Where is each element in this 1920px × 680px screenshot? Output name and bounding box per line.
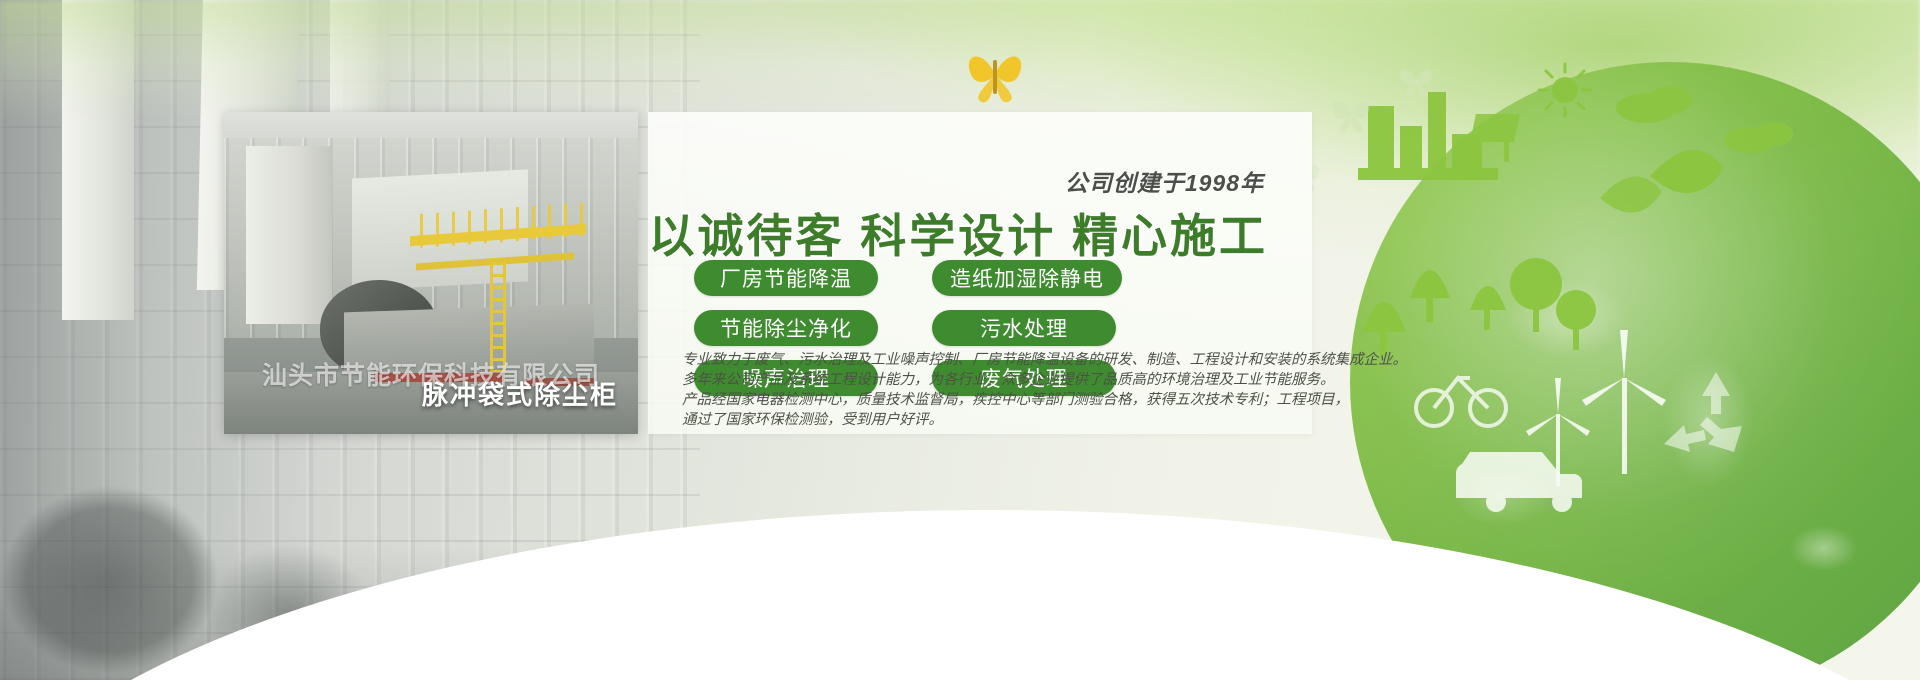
company-description: 专业致力于废气、污水治理及工业噪声控制、厂房节能降温设备的研发、制造、工程设计和… <box>682 350 1308 430</box>
service-tag[interactable]: 造纸加湿除静电 <box>932 260 1122 296</box>
banner-headline: 以诚待客 科学设计 精心施工 <box>648 200 1268 266</box>
service-tag[interactable]: 污水处理 <box>932 310 1116 346</box>
description-line: 通过了国家环保检测验，受到用户好评。 <box>682 410 1308 430</box>
butterfly-icon <box>1396 62 1436 98</box>
butterfly-icon <box>1328 92 1374 134</box>
description-line: 多年来公司产品及系统工程设计能力，为各行业，众多企业提供了品质高的环境治理及工业… <box>682 370 1308 390</box>
butterfly-icon <box>962 44 1028 104</box>
content-card: 公司创建于1998年 以诚待客 科学设计 精心施工 厂房节能降温 造纸加湿除静电… <box>648 112 1312 434</box>
photo-caption: 脉冲袋式除尘柜 <box>422 375 618 412</box>
service-tag[interactable]: 厂房节能降温 <box>694 260 878 296</box>
factory-photo-card: 汕头市节能环保科技有限公司 脉冲袋式除尘柜 <box>224 112 638 434</box>
company-founded-subtitle: 公司创建于1998年 <box>1065 164 1264 198</box>
banner-stage: 汕头市节能环保科技有限公司 脉冲袋式除尘柜 公司创建于1998年 以诚待客 科学… <box>0 0 1920 680</box>
service-tag[interactable]: 节能除尘净化 <box>694 310 878 346</box>
photo-duct-left <box>246 146 332 324</box>
description-line: 专业致力于废气、污水治理及工业噪声控制、厂房节能降温设备的研发、制造、工程设计和… <box>682 350 1308 370</box>
description-line: 产品经国家电器检测中心，质量技术监督局，疾控中心等部门测验合格，获得五次技术专利… <box>682 390 1308 410</box>
